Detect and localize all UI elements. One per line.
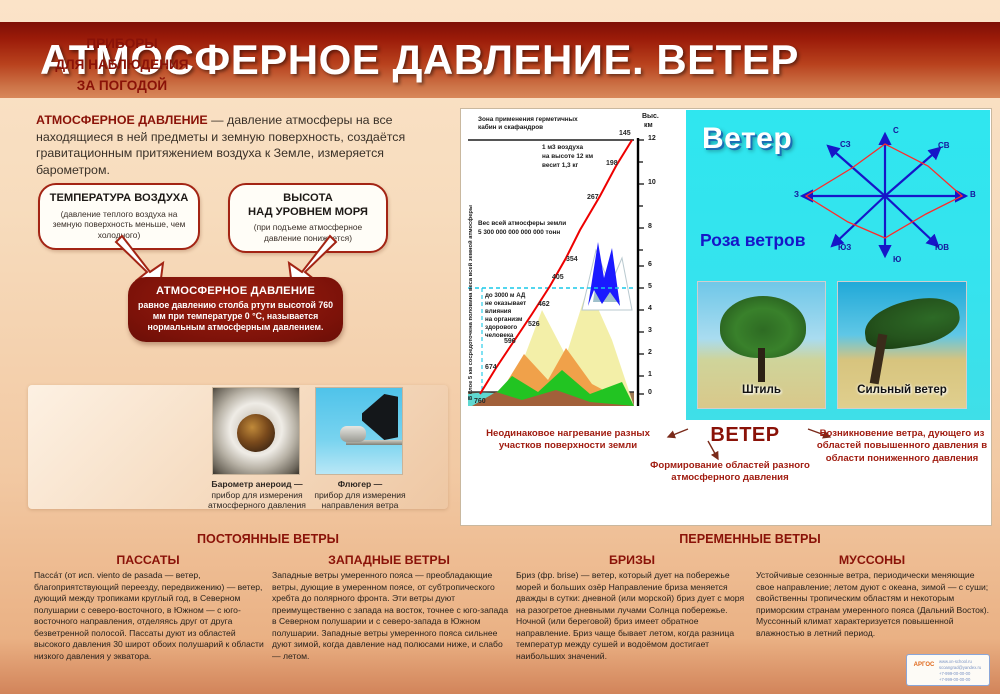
direction-label-east: В: [970, 190, 976, 199]
vane-desc: прибор для измерения направления ветра: [308, 490, 412, 511]
instruments-title-line1: ПРИБОРЫ: [42, 33, 202, 54]
chart-pressure-462: 462: [538, 301, 550, 308]
section-constant-winds: ПОСТОЯННЫЕ ВЕТРЫ: [30, 532, 506, 546]
wind-rose-diagram: [780, 118, 990, 268]
chart-tick-8: 8: [648, 223, 652, 230]
chart-ann-weight-line2: 5 300 000 000 000 000 тонн: [478, 229, 560, 237]
chart-tick-3: 3: [648, 327, 652, 334]
column-body-passaty: Пасса́т (от исп. viento de pasada — вете…: [34, 570, 270, 662]
direction-label-south: Ю: [893, 255, 901, 264]
atmosphere-pressure-chart: Зона применения герметичных кабин и скаф…: [462, 110, 684, 420]
column-body-zapadnye: Западные ветры умеренного пояса — преобл…: [272, 570, 510, 662]
chart-tick-5: 5: [648, 283, 652, 290]
chart-pressure-145: 145: [619, 130, 631, 137]
chart-ann-zone-line2: кабин и скафандров: [478, 124, 628, 132]
logo-mark: АРГОС: [911, 661, 937, 681]
instruments-title: ПРИБОРЫ ДЛЯ НАБЛЮДЕНИЯ ЗА ПОГОДОЙ: [42, 33, 202, 96]
chart-tick-2: 2: [648, 349, 652, 356]
factor-altitude-title-2: НАД УРОВНЕМ МОРЯ: [236, 206, 380, 220]
logo-line4: +7-999-00-00-00: [939, 677, 989, 683]
factor-altitude-title-1: ВЫСОТА: [236, 192, 380, 206]
chart-pressure-674: 674: [485, 364, 497, 371]
column-head-brizy: БРИЗЫ: [516, 553, 748, 567]
chart-ann-m3-line1: 1 м3 воздуха: [542, 144, 583, 152]
chart-tick-10: 10: [648, 179, 656, 186]
chart-ann-m3-line2: на высоте 12 км: [542, 153, 593, 161]
chart-ann-m3-line3: весит 1,3 кг: [542, 162, 578, 170]
direction-label-north: С: [893, 126, 899, 135]
direction-label-northeast: СВ: [938, 141, 950, 150]
vane-caption: Флюгер — прибор для измерения направлени…: [308, 479, 412, 511]
chart-ann-zone-line1: Зона применения герметичных: [478, 116, 628, 124]
chart-ann-3000-line4: на организм: [485, 316, 523, 324]
chart-ann-3000-line1: до 3000 м АД: [485, 292, 525, 300]
direction-label-southwest: ЮЗ: [838, 243, 851, 252]
chart-tick-12: 12: [648, 135, 656, 142]
column-head-zapadnye: ЗАПАДНЫЕ ВЕТРЫ: [272, 553, 506, 567]
chart-ann-weight-line1: Вес всей атмосферы земли: [478, 220, 566, 228]
column-head-mussony: МУССОНЫ: [756, 553, 988, 567]
chart-pressure-596: 596: [504, 338, 516, 345]
chart-ann-3000-line2: не оказывает: [485, 300, 526, 308]
barometer-caption: Барометр анероид — прибор для измерения …: [196, 479, 318, 511]
chart-tick-4: 4: [648, 305, 652, 312]
intro-term: АТМОСФЕРНОЕ ДАВЛЕНИЕ: [36, 113, 208, 127]
chart-pressure-526: 526: [528, 321, 540, 328]
instruments-title-line3: ЗА ПОГОДОЙ: [42, 75, 202, 96]
barometer-photo: [212, 387, 300, 475]
chart-axis-unit-line2: км: [644, 122, 653, 129]
chart-pressure-198: 198: [606, 160, 618, 167]
chart-axis-unit-line1: Выс.: [642, 113, 659, 120]
column-body-brizy: Бриз (фр. brise) — ветер, который дует н…: [516, 570, 752, 662]
chart-tick-6: 6: [648, 261, 652, 268]
barometer-desc: прибор для измерения атмосферного давлен…: [196, 490, 318, 511]
chart-ann-3000-line5: здорового: [485, 324, 517, 332]
column-body-mussony: Устойчивые сезонные ветра, периодически …: [756, 570, 994, 639]
direction-label-southeast: ЮВ: [935, 243, 949, 252]
strong-wind-caption: Сильный ветер: [837, 383, 967, 396]
result-atmospheric-pressure-box: АТМОСФЕРНОЕ ДАВЛЕНИЕ равное давлению сто…: [128, 277, 343, 342]
section-variable-winds: ПЕРЕМЕННЫЕ ВЕТРЫ: [512, 532, 988, 546]
vane-name: Флюгер —: [338, 479, 383, 489]
chart-tick-0: 0: [648, 389, 652, 396]
wind-cause-left: Неодинаковое нагревание разных участков …: [468, 428, 668, 453]
direction-label-west: З: [794, 190, 799, 199]
wind-panel-title: Ветер: [702, 122, 792, 156]
chart-pressure-760: 760: [474, 398, 486, 405]
direction-label-northwest: СЗ: [840, 140, 851, 149]
barometer-name: Барометр анероид —: [211, 479, 302, 489]
chart-pressure-354: 354: [566, 256, 578, 263]
logo-contact: www.xn-school.ru scoangrad@yandex.ru +7-…: [939, 659, 989, 683]
vane-body-icon: [340, 426, 366, 442]
column-head-passaty: ПАССАТЫ: [34, 553, 262, 567]
tree-trunk-icon: [758, 348, 765, 382]
wind-cause-middle: Формирование областей разного атмосферно…: [635, 460, 825, 485]
intro-paragraph: АТМОСФЕРНОЕ ДАВЛЕНИЕ — давление атмосфер…: [36, 112, 456, 178]
result-sub: равное давлению столба ртути высотой 760…: [136, 300, 335, 333]
calm-caption: Штиль: [697, 383, 826, 396]
factor-temperature-title: ТЕМПЕРАТУРА ВОЗДУХА: [46, 192, 192, 206]
result-title: АТМОСФЕРНОЕ ДАВЛЕНИЕ: [136, 285, 335, 297]
publisher-logo: АРГОС www.xn-school.ru scoangrad@yandex.…: [906, 654, 990, 686]
chart-ann-3000-line3: влияния: [485, 308, 511, 316]
poster-root: АТМОСФЕРНОЕ ДАВЛЕНИЕ. ВЕТЕР АТМОСФЕРНОЕ …: [0, 0, 1000, 694]
vane-tail-icon: [362, 394, 398, 440]
instruments-title-line2: ДЛЯ НАБЛЮДЕНИЯ: [42, 54, 202, 75]
weather-vane-photo: [315, 387, 403, 475]
wind-cause-right: Возникновение ветра, дующего из областей…: [812, 428, 992, 465]
chart-pressure-267: 267: [587, 194, 599, 201]
chart-tick-1: 1: [648, 371, 652, 378]
wind-diagram-center: ВЕТЕР: [690, 424, 800, 447]
chart-pressure-405: 405: [552, 274, 564, 281]
chart-ann-vertical: В слое 5 км сосредоточена половина веса …: [468, 260, 475, 400]
